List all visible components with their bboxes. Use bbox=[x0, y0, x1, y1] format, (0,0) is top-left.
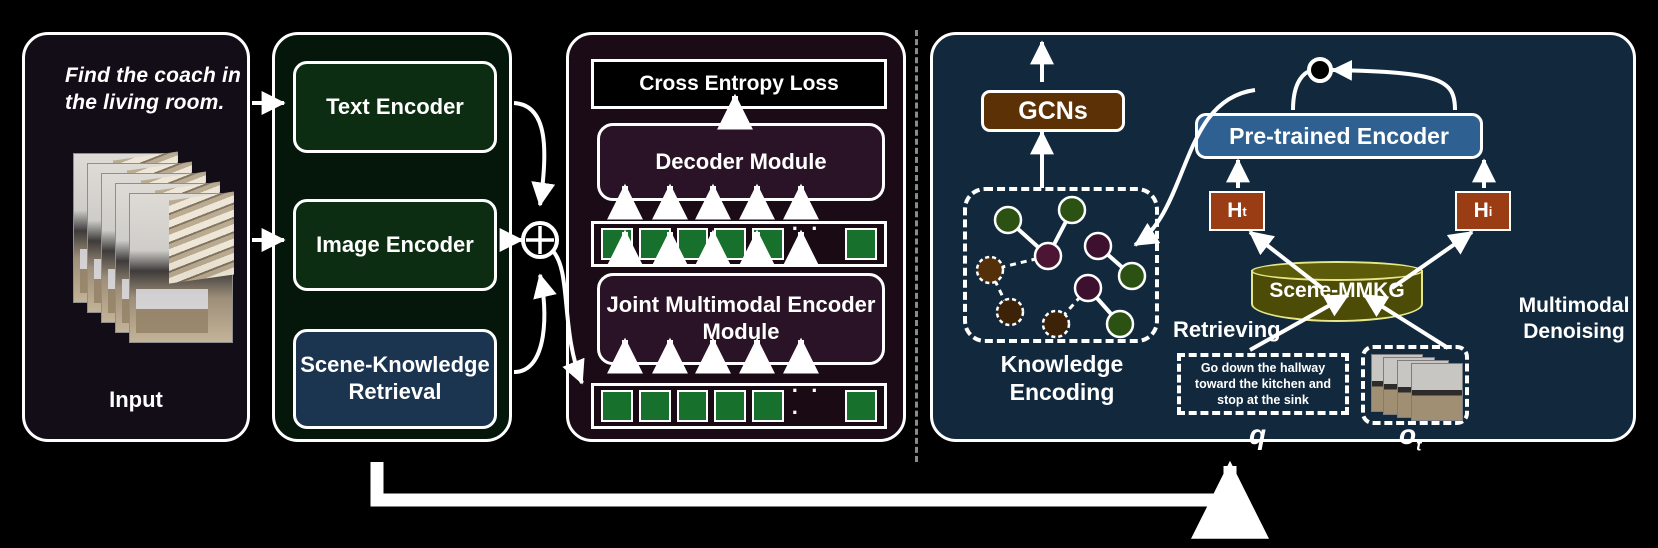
scene-knowledge-retrieval-box[interactable]: Scene-Knowledge Retrieval bbox=[293, 329, 497, 429]
h-image-symbol: H bbox=[1474, 199, 1489, 223]
encoder-panel: Text Encoder Image Encoder Scene-Knowled… bbox=[272, 32, 512, 442]
decoder-token-row: · · · bbox=[591, 221, 887, 267]
h-text-subscript: t bbox=[1242, 204, 1246, 219]
instruction-text: Go down the hallway toward the kitchen a… bbox=[1181, 360, 1345, 409]
model-panel: Cross Entropy Loss Decoder Module · · · … bbox=[566, 32, 906, 442]
token bbox=[677, 390, 709, 422]
h-image-subscript: i bbox=[1489, 204, 1493, 219]
knowledge-encoding-label: Knowledge Encoding bbox=[947, 351, 1177, 406]
input-panel: Find the coach in the living room. Input bbox=[22, 32, 250, 442]
q-label: q bbox=[1249, 419, 1266, 451]
multimodal-denoising-label: Multimodal Denoising bbox=[1499, 293, 1649, 344]
h-image-box: Hi bbox=[1455, 191, 1511, 231]
text-encoder-box[interactable]: Text Encoder bbox=[293, 61, 497, 153]
ot-subscript: t bbox=[1416, 438, 1421, 455]
token bbox=[677, 228, 709, 260]
token bbox=[845, 228, 877, 260]
h-text-symbol: H bbox=[1227, 199, 1242, 223]
token bbox=[752, 228, 784, 260]
ot-label: ot bbox=[1399, 419, 1421, 456]
token bbox=[639, 228, 671, 260]
scene-mmkg-label: Scene-MMKG bbox=[1251, 279, 1423, 303]
token-ellipsis: · · · bbox=[790, 218, 840, 270]
joint-multimodal-encoder-box[interactable]: Joint Multimodal Encoder Module bbox=[597, 273, 885, 365]
token-ellipsis: · · · bbox=[790, 380, 840, 432]
panel-divider bbox=[915, 30, 918, 462]
h-text-box: Ht bbox=[1209, 191, 1265, 231]
gcns-box[interactable]: GCNs bbox=[981, 90, 1125, 132]
input-image-stack bbox=[73, 153, 243, 343]
observation-image-stack bbox=[1371, 354, 1467, 422]
input-query-text: Find the coach in the living room. bbox=[65, 63, 255, 117]
input-image-5 bbox=[129, 193, 233, 343]
image-encoder-box[interactable]: Image Encoder bbox=[293, 199, 497, 291]
scene-mmkg-cylinder[interactable]: Scene-MMKG bbox=[1251, 261, 1423, 323]
arrow-text-encoder-to-fusion bbox=[514, 103, 544, 205]
token bbox=[752, 390, 784, 422]
token bbox=[601, 228, 633, 260]
arrow-skr-to-fusion bbox=[514, 275, 544, 372]
pretrained-encoder-box[interactable]: Pre-trained Encoder bbox=[1195, 113, 1483, 159]
cross-entropy-loss-box[interactable]: Cross Entropy Loss bbox=[591, 59, 887, 109]
retrieving-label: Retrieving bbox=[1173, 317, 1281, 343]
token bbox=[714, 390, 746, 422]
fusion-node bbox=[523, 223, 557, 257]
knowledge-graph-region bbox=[963, 187, 1159, 343]
knowledge-panel: GCNs Knowledge Encoding Pre-trained Enco… bbox=[930, 32, 1636, 442]
observation-image-box bbox=[1361, 345, 1469, 425]
ot-symbol: o bbox=[1399, 419, 1416, 450]
decoder-module-box[interactable]: Decoder Module bbox=[597, 123, 885, 201]
feedback-loop-arrow bbox=[377, 462, 1230, 500]
input-panel-label: Input bbox=[25, 387, 247, 413]
token bbox=[714, 228, 746, 260]
token bbox=[639, 390, 671, 422]
observation-image-4 bbox=[1411, 363, 1463, 421]
instruction-text-box: Go down the hallway toward the kitchen a… bbox=[1177, 353, 1349, 415]
diagram-canvas: Find the coach in the living room. Input… bbox=[0, 0, 1658, 548]
token bbox=[845, 390, 877, 422]
token bbox=[601, 390, 633, 422]
encoder-token-row: · · · bbox=[591, 383, 887, 429]
cylinder-top bbox=[1251, 261, 1423, 281]
